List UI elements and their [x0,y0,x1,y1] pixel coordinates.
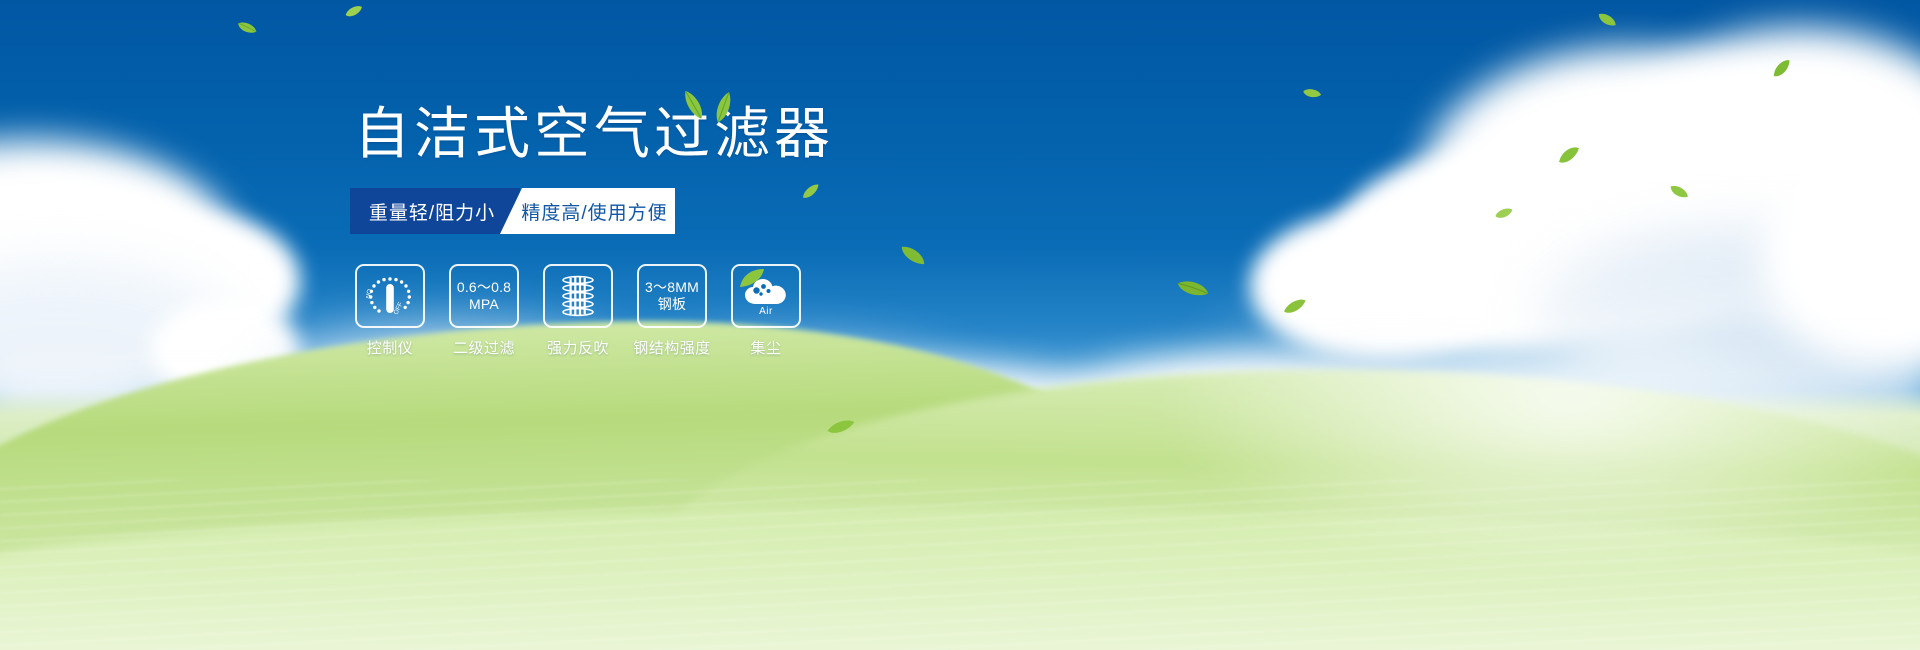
air-cloud-icon [742,277,790,305]
pressure-range: 0.6～0.8 [457,279,511,295]
steel-thickness: 3～8MM [645,279,699,295]
svg-text:OFF: OFF [393,301,405,316]
feature-label: 控制仪 [367,337,414,358]
feature-icon-box: NO OFF [355,264,425,328]
feature-icon-box [543,264,613,328]
steel-material: 钢板 [645,296,699,313]
control-dial-icon: NO OFF [366,273,414,319]
feature-icon-box: Air [731,264,801,328]
svg-text:NO: NO [366,288,374,299]
tag-precision-convenience[interactable]: 精度高/使用方便 [500,188,675,234]
tag-weight-resistance[interactable]: 重量轻/阻力小 [350,188,520,234]
feature-item-controller[interactable]: NO OFF 控制仪 [354,264,426,358]
pressure-unit: MPA [457,296,511,313]
feature-icon-box: 0.6～0.8 MPA [449,264,519,328]
feature-item-dust-collection[interactable]: Air 集尘 [730,264,802,358]
sun-glow [1120,210,1920,590]
banner-content: 自洁式空气过滤器 重量轻/阻力小 精度高/使用方便 [350,106,1050,358]
feature-item-two-stage-filter[interactable]: 0.6～0.8 MPA 二级过滤 [448,264,520,358]
feature-item-steel-strength[interactable]: 3～8MM 钢板 钢结构强度 [636,264,708,358]
feature-label: 集尘 [750,337,781,358]
backflush-filter-icon [556,273,600,319]
feature-tag-bar: 重量轻/阻力小 精度高/使用方便 [350,188,675,234]
steel-plate-text-icon: 3～8MM 钢板 [645,279,699,312]
feature-label: 钢结构强度 [633,337,711,358]
feature-label: 强力反吹 [547,337,609,358]
banner-stage: 自洁式空气过滤器 重量轻/阻力小 精度高/使用方便 [0,0,1920,650]
feature-list: NO OFF 控制仪 0.6～0.8 MPA 二级过滤 [350,264,1050,358]
feature-item-backflush[interactable]: 强力反吹 [542,264,614,358]
pressure-text-icon: 0.6～0.8 MPA [457,279,511,312]
air-label: Air [759,306,773,317]
feature-label: 二级过滤 [453,337,515,358]
feature-icon-box: 3～8MM 钢板 [637,264,707,328]
